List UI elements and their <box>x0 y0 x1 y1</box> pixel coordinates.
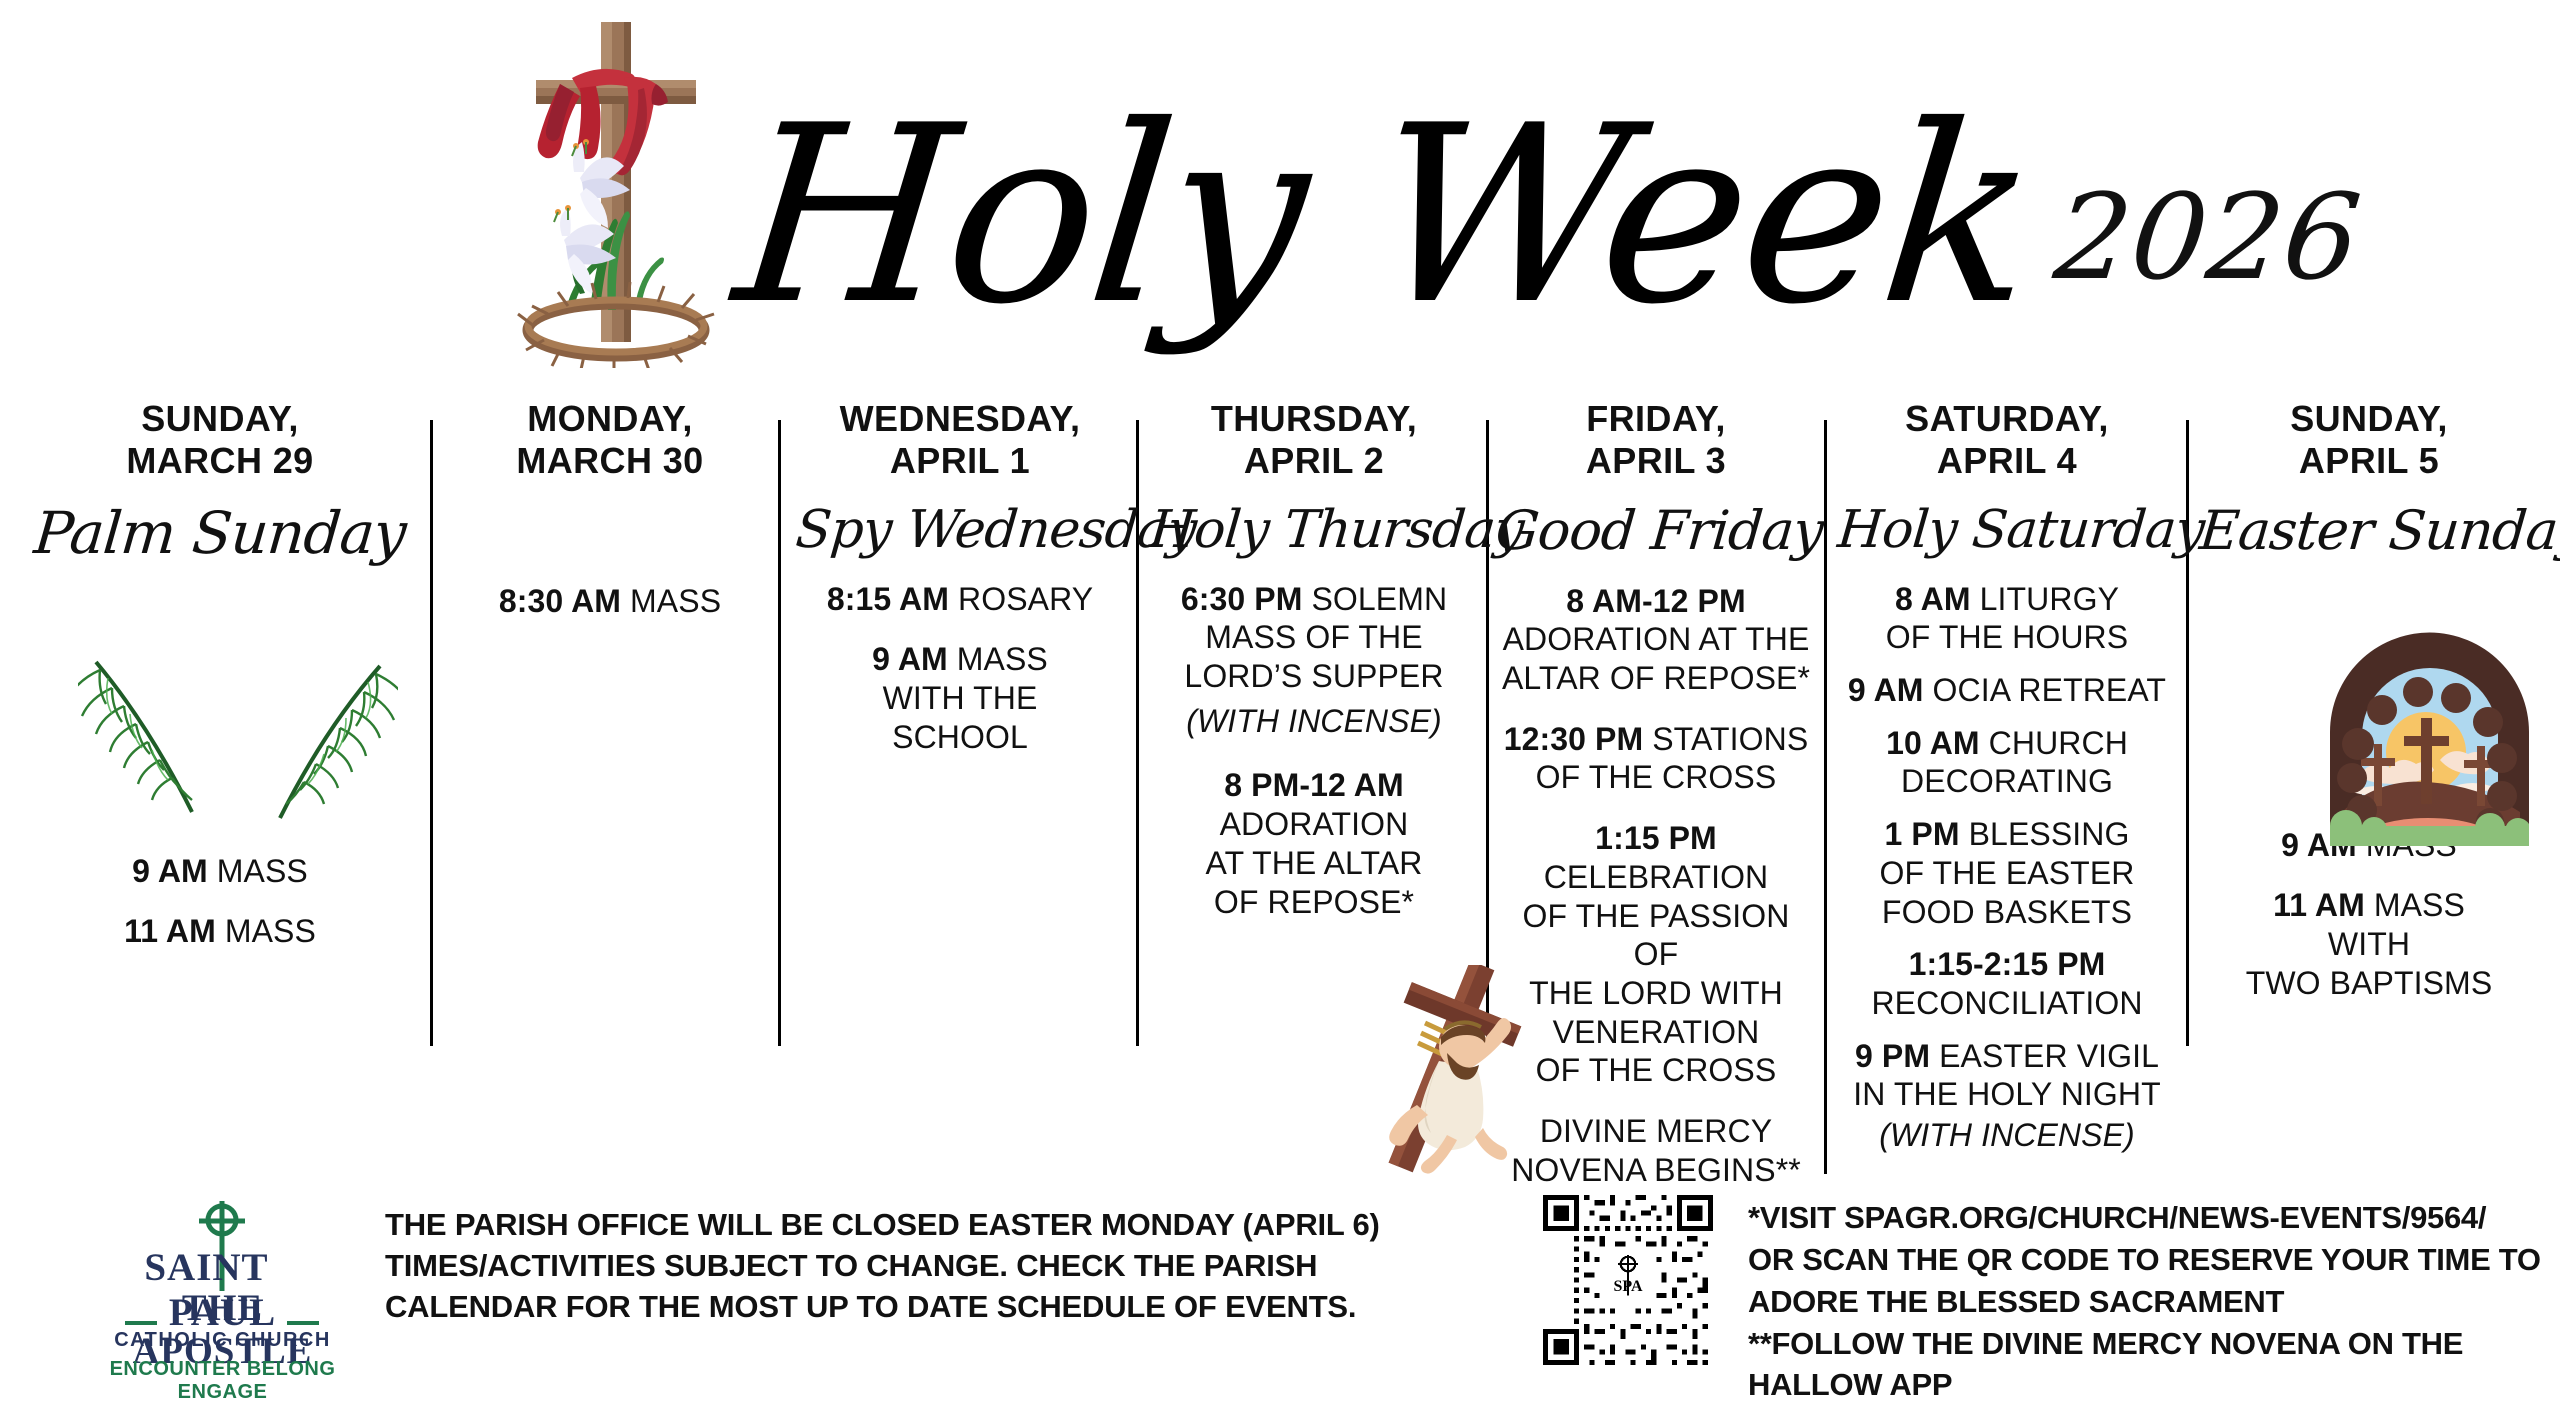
feast-name: Holy Thursday <box>1148 504 1481 556</box>
events-list: 9 AM MASS 11 AM MASS <box>30 852 410 951</box>
day-heading: WEDNESDAY, APRIL 1 <box>796 398 1124 482</box>
page-title: Holy Week <box>728 103 2042 328</box>
event-item: 1 PM BLESSING OF THE EASTER FOOD BASKETS <box>1838 815 2176 931</box>
feast-name: Spy Wednesday <box>794 504 1127 556</box>
event-item: 10 AM CHURCH DECORATING <box>1838 724 2176 801</box>
event-item: 9 AM MASS WITH THE SCHOOL <box>796 640 1124 756</box>
page-header: Holy Week 2026 <box>0 0 2560 395</box>
event-item: 8:30 AM MASS <box>450 582 770 621</box>
events-list: 8:15 AM ROSARY 9 AM MASS WITH THE SCHOOL <box>796 580 1124 757</box>
day-column-saturday-april-4: SATURDAY, APRIL 4 Holy Saturday 8 AM LIT… <box>1838 398 2176 1177</box>
footnotes-text: *VISIT SPAGR.ORG/CHURCH/NEWS-EVENTS/9564… <box>1748 1197 2548 1406</box>
day-column-sunday-april-5: SUNDAY, APRIL 5 Easter Sunday <box>2200 398 2538 1024</box>
column-divider <box>1824 420 1827 1174</box>
events-list: 8 AM LITURGY OF THE HOURS 9 AM OCIA RETR… <box>1838 580 2176 1155</box>
qr-code-icon[interactable]: SPA <box>1543 1195 1713 1365</box>
jesus-carrying-cross-icon <box>1343 965 1558 1180</box>
logo-line-1: SAINT <box>144 1246 268 1289</box>
day-heading: THURSDAY, APRIL 2 <box>1150 398 1478 482</box>
column-divider <box>430 420 433 1046</box>
schedule-grid: SUNDAY, MARCH 29 Palm Sunday 9 AM MASS 1… <box>0 398 2560 1188</box>
disclaimer-text: THE PARISH OFFICE WILL BE CLOSED EASTER … <box>385 1205 1345 1328</box>
event-item: 8 AM LITURGY OF THE HOURS <box>1838 580 2176 657</box>
day-column-monday-march-30: MONDAY, MARCH 30 8:30 AM MASS <box>450 398 770 642</box>
events-list: 8:30 AM MASS <box>450 582 770 621</box>
disclaimer-line: CALENDAR FOR THE MOST UP TO DATE SCHEDUL… <box>385 1287 1345 1328</box>
day-heading: SUNDAY, APRIL 5 <box>2200 398 2538 482</box>
event-item: 12:30 PM STATIONS OF THE CROSS <box>1496 720 1816 797</box>
footnote-line: *VISIT SPAGR.ORG/CHURCH/NEWS-EVENTS/9564… <box>1748 1197 2548 1239</box>
day-column-sunday-march-29: SUNDAY, MARCH 29 Palm Sunday 9 AM MASS 1… <box>30 398 410 973</box>
feast-name: Palm Sunday <box>27 504 412 562</box>
event-item: 8:15 AM ROSARY <box>796 580 1124 619</box>
feast-name: Holy Saturday <box>1836 504 2179 556</box>
cross-with-red-cloth-and-lilies-icon <box>468 8 768 368</box>
page-year: 2026 <box>2049 168 2368 306</box>
title-block: Holy Week 2026 <box>740 28 2040 328</box>
event-item: 11 AM MASS <box>30 912 410 951</box>
event-item: 9 PM EASTER VIGIL IN THE HOLY NIGHT <box>1838 1037 2176 1114</box>
event-note: (WITH INCENSE) <box>1838 1116 2176 1155</box>
event-item: 8 PM-12 AM ADORATION AT THE ALTAR OF REP… <box>1150 766 1478 921</box>
event-item: 9 AM OCIA RETREAT <box>1838 671 2176 710</box>
logo-tagline: ENCOUNTER BELONG ENGAGE <box>95 1358 350 1404</box>
logo-line-4: CATHOLIC CHURCH <box>95 1329 350 1352</box>
day-heading: SATURDAY, APRIL 4 <box>1838 398 2176 482</box>
disclaimer-line: TIMES/ACTIVITIES SUBJECT TO CHANGE. CHEC… <box>385 1246 1345 1287</box>
disclaimer-line: THE PARISH OFFICE WILL BE CLOSED EASTER … <box>385 1205 1345 1246</box>
day-heading: MONDAY, MARCH 30 <box>450 398 770 482</box>
qr-center-label: SPA <box>1614 1278 1643 1295</box>
palm-branches-icon <box>78 644 398 864</box>
footnote-line: ADORE THE BLESSED SACRAMENT <box>1748 1281 2548 1323</box>
empty-tomb-three-crosses-icon <box>2322 626 2537 846</box>
event-note: (WITH INCENSE) <box>1150 702 1478 741</box>
event-item: 11 AM MASS WITH TWO BAPTISMS <box>2200 886 2538 1002</box>
event-item: 1:15-2:15 PM RECONCILIATION <box>1838 945 2176 1022</box>
day-heading: SUNDAY, MARCH 29 <box>30 398 410 482</box>
day-heading: FRIDAY, APRIL 3 <box>1496 398 1816 482</box>
footnote-line: OR SCAN THE QR CODE TO RESERVE YOUR TIME… <box>1748 1239 2548 1281</box>
feast-name: Easter Sunday <box>2198 504 2541 558</box>
event-item: 8 AM-12 PM ADORATION AT THE ALTAR OF REP… <box>1496 582 1816 698</box>
event-item: 6:30 PM SOLEMN MASS OF THE LORD’S SUPPER <box>1150 580 1478 696</box>
day-column-thursday-april-2: THURSDAY, APRIL 2 Holy Thursday 6:30 PM … <box>1150 398 1478 943</box>
parish-logo: SAINT PAUL THE APOSTLE CATHOLIC CHURCH E… <box>95 1195 350 1370</box>
page-footer: SAINT PAUL THE APOSTLE CATHOLIC CHURCH E… <box>0 1185 2560 1385</box>
events-list: 6:30 PM SOLEMN MASS OF THE LORD’S SUPPER… <box>1150 580 1478 922</box>
column-divider <box>778 420 781 1046</box>
events-list: 9 AM MASS 11 AM MASS WITH TWO BAPTISMS <box>2200 826 2538 1003</box>
footnote-line: HALLOW APP <box>1748 1364 2548 1406</box>
day-column-wednesday-april-1: WEDNESDAY, APRIL 1 Spy Wednesday 8:15 AM… <box>796 398 1124 778</box>
footnote-line: **FOLLOW THE DIVINE MERCY NOVENA ON THE <box>1748 1323 2548 1365</box>
feast-name: Good Friday <box>1494 504 1819 558</box>
